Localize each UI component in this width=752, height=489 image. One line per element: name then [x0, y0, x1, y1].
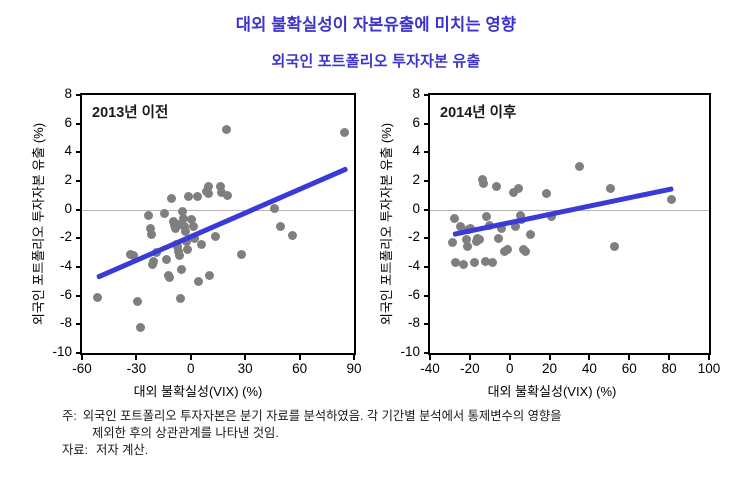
- scatter-point: [167, 194, 176, 203]
- plot-area-right: [430, 95, 709, 353]
- scatter-point: [479, 179, 488, 188]
- y-axis-tick: [76, 352, 82, 354]
- note-row: 주: 외국인 포트폴리오 투자자본은 분기 자료를 분석하였음. 각 기간별 분…: [62, 408, 722, 425]
- scatter-point: [183, 245, 192, 254]
- x-axis-title-right: 대외 불확실성(VIX) (%): [382, 381, 722, 400]
- x-axis-tick-label: -30: [127, 361, 147, 376]
- note-tag: 주:: [62, 408, 77, 425]
- scatter-point: [177, 265, 186, 274]
- scatter-point: [482, 212, 491, 221]
- x-axis-tick-label: 80: [662, 361, 677, 376]
- x-axis-tick-label: 60: [622, 361, 637, 376]
- y-axis-tick: [76, 180, 82, 182]
- x-axis-tick: [469, 355, 471, 360]
- scatter-point: [162, 255, 171, 264]
- scatter-point: [606, 184, 615, 193]
- y-axis-tick: [424, 180, 430, 182]
- scatter-point: [526, 230, 535, 239]
- y-axis-tick: [424, 151, 430, 153]
- scatter-point: [610, 242, 619, 251]
- x-axis-tick-label: 40: [582, 361, 597, 376]
- sub-title: 외국인 포트폴리오 투자자본 유출: [0, 52, 752, 72]
- x-axis-tick-label: -20: [460, 361, 480, 376]
- scatter-point: [575, 162, 584, 171]
- x-axis-tick-label: -40: [420, 361, 440, 376]
- x-axis-tick: [244, 355, 246, 360]
- scatter-point: [204, 189, 213, 198]
- scatter-point: [521, 247, 530, 256]
- x-axis-tick: [299, 355, 301, 360]
- scatter-point: [459, 260, 468, 269]
- scatter-point: [133, 297, 142, 306]
- plot-area-left: [82, 95, 354, 353]
- scatter-point: [176, 294, 185, 303]
- x-axis-tick: [588, 355, 590, 360]
- scatter-point: [194, 277, 203, 286]
- scatter-point: [340, 128, 349, 137]
- note-line-1: 외국인 포트폴리오 투자자본은 분기 자료를 분석하였음. 각 기간별 분석에서…: [77, 408, 722, 425]
- scatter-point: [463, 242, 472, 251]
- x-axis-tick: [353, 355, 355, 360]
- y-axis-tick: [76, 266, 82, 268]
- y-axis-tick: [424, 94, 430, 96]
- scatter-point: [211, 232, 220, 241]
- x-axis-tick: [190, 355, 192, 360]
- scatter-point: [160, 209, 169, 218]
- scatter-point: [488, 258, 497, 267]
- scatter-point: [149, 257, 158, 266]
- scatter-point: [175, 251, 184, 260]
- x-axis-tick: [549, 355, 551, 360]
- y-axis-tick: [424, 209, 430, 211]
- source-text: 저자 계산.: [92, 442, 722, 459]
- y-axis-title-right: 외국인 포트폴리오 투자자본 유출 (%): [376, 95, 395, 353]
- scatter-point: [492, 182, 501, 191]
- scatter-point: [237, 250, 246, 259]
- scatter-point: [276, 222, 285, 231]
- y-axis-tick: [424, 237, 430, 239]
- x-axis-tick-label: 90: [346, 361, 361, 376]
- y-axis-tick: [424, 323, 430, 325]
- scatter-point: [514, 184, 523, 193]
- scatter-point: [93, 293, 102, 302]
- footnotes: 주: 외국인 포트폴리오 투자자본은 분기 자료를 분석하였음. 각 기간별 분…: [62, 408, 722, 459]
- y-axis-tick: [76, 323, 82, 325]
- scatter-point: [197, 240, 206, 249]
- x-axis-tick: [708, 355, 710, 360]
- y-axis-tick: [76, 295, 82, 297]
- x-axis-tick-label: 60: [292, 361, 307, 376]
- y-axis-tick: [424, 352, 430, 354]
- y-axis-tick: [76, 237, 82, 239]
- y-axis-tick: [424, 266, 430, 268]
- x-axis-tick-label: 0: [506, 361, 514, 376]
- x-axis-tick: [668, 355, 670, 360]
- y-axis-tick: [76, 151, 82, 153]
- trendline: [452, 186, 673, 237]
- y-axis-tick: [76, 94, 82, 96]
- x-axis-tick-label: -60: [72, 361, 92, 376]
- scatter-point: [667, 195, 676, 204]
- x-axis-tick-label: 0: [187, 361, 195, 376]
- panel-label-right: 2014년 이후: [440, 101, 516, 122]
- y-axis-tick: [424, 123, 430, 125]
- x-axis-tick: [81, 355, 83, 360]
- x-axis-tick: [628, 355, 630, 360]
- plot-frame-left: [80, 93, 356, 355]
- scatter-point: [147, 230, 156, 239]
- x-axis-tick-label: 30: [238, 361, 253, 376]
- scatter-point: [223, 191, 232, 200]
- main-title: 대외 불확실성이 자본유출에 미치는 영향: [0, 14, 752, 36]
- note-row-continued: 제외한 후의 상관관계를 나타낸 것임.: [62, 425, 722, 442]
- scatter-point: [475, 235, 484, 244]
- x-axis-tick: [509, 355, 511, 360]
- scatter-point: [144, 211, 153, 220]
- y-axis-tick: [76, 123, 82, 125]
- scatter-point: [494, 234, 503, 243]
- panel-label-left: 2013년 이전: [92, 101, 168, 122]
- note-line-2: 제외한 후의 상관관계를 나타낸 것임.: [92, 425, 722, 442]
- scatter-point: [270, 204, 279, 213]
- x-axis-tick: [429, 355, 431, 360]
- plot-frame-right: [428, 93, 711, 355]
- scatter-point: [448, 238, 457, 247]
- chart-title-block: 대외 불확실성이 자본유출에 미치는 영향 외국인 포트폴리오 투자자본 유출: [0, 14, 752, 72]
- y-axis-tick: [424, 295, 430, 297]
- scatter-point: [288, 231, 297, 240]
- y-axis-tick: [76, 209, 82, 211]
- scatter-point: [542, 189, 551, 198]
- x-axis-tick-label: 20: [542, 361, 557, 376]
- x-axis-title-left: 대외 불확실성(VIX) (%): [28, 381, 368, 400]
- y-axis-title-left: 외국인 포트폴리오 투자자본 유출 (%): [28, 95, 47, 353]
- scatter-point: [470, 258, 479, 267]
- scatter-point: [165, 273, 174, 282]
- source-tag: 자료:: [62, 442, 92, 459]
- source-row: 자료: 저자 계산.: [62, 442, 722, 459]
- scatter-point: [222, 125, 231, 134]
- x-axis-tick: [135, 355, 137, 360]
- scatter-point: [503, 245, 512, 254]
- scatter-point: [205, 271, 214, 280]
- scatter-point: [136, 323, 145, 332]
- x-axis-tick-label: 100: [698, 361, 721, 376]
- scatter-point: [193, 192, 202, 201]
- zero-reference-line: [82, 210, 354, 211]
